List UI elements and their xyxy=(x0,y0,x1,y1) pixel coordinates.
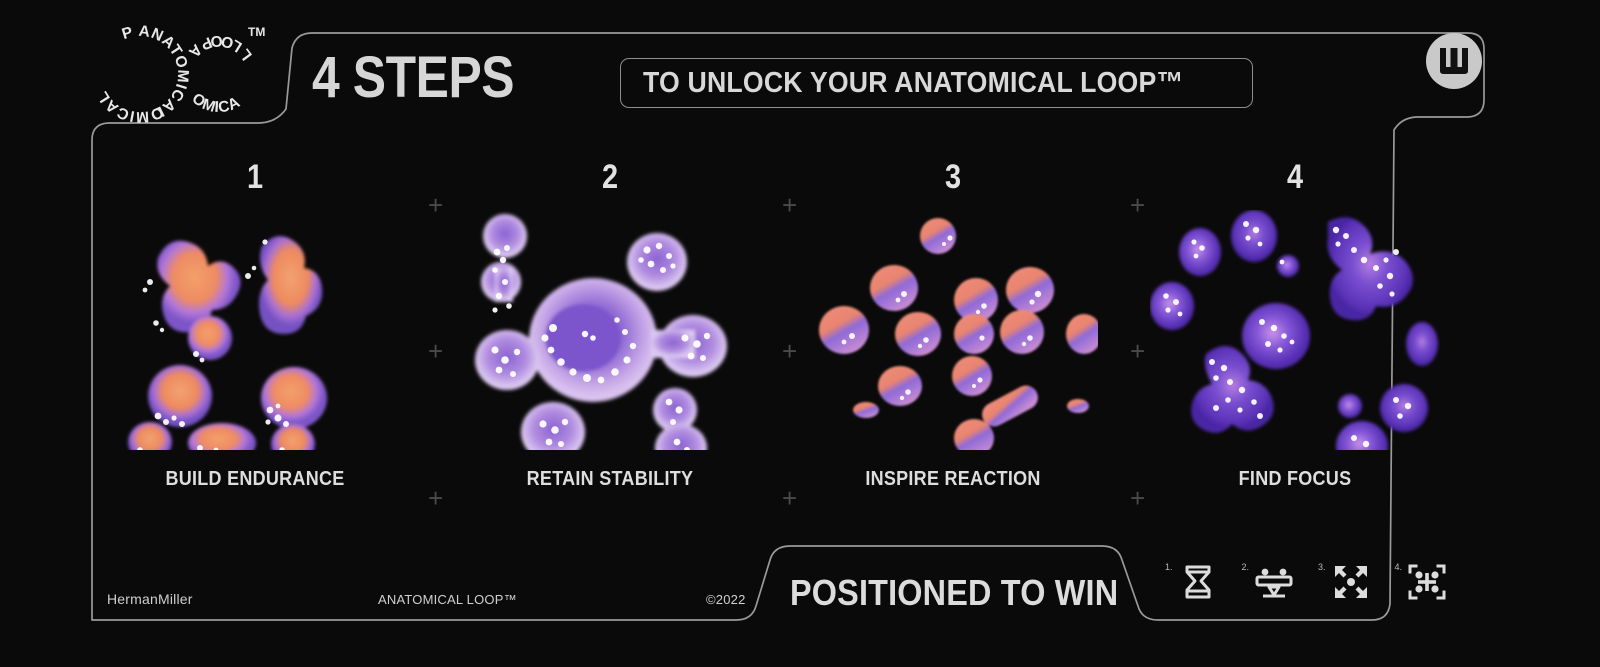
header-subtitle-pill: TO UNLOCK YOUR ANATOMICAL LOOP™ xyxy=(620,58,1253,108)
separator-plus: + xyxy=(782,192,797,218)
blob-cluster-endurance xyxy=(110,210,400,450)
svg-text:L LOOP A: L LOOP A xyxy=(185,32,256,64)
separator-plus: + xyxy=(782,338,797,364)
loop-logo-trademark: TM xyxy=(248,25,265,39)
blob-cluster-reaction xyxy=(808,210,1098,450)
header-subtitle-text: TO UNLOCK YOUR ANATOMICAL LOOP™ xyxy=(643,67,1183,100)
separator-plus: + xyxy=(1130,338,1145,364)
step-column-3: 3 xyxy=(808,160,1098,520)
mini-icon-item-3: 3. xyxy=(1318,560,1373,604)
separator-plus: + xyxy=(428,192,443,218)
page-title: 4 STEPS xyxy=(312,48,514,109)
blob-cluster-focus xyxy=(1150,210,1440,450)
footer-product-name: ANATOMICAL LOOP™ xyxy=(378,592,517,607)
svg-text:OMICAL: OMICAL xyxy=(94,88,165,125)
steps-row: + + + + + + + + + 1 xyxy=(110,160,1490,520)
focus-target-icon xyxy=(1405,560,1449,604)
separator-plus: + xyxy=(428,485,443,511)
footer-copyright: ©2022 xyxy=(706,592,746,607)
step-number: 4 xyxy=(1172,160,1419,194)
step-number: 3 xyxy=(830,160,1077,194)
anatomical-loop-infinity-logo: P ANATOMICAL OMICAL OMICA L LOOP A TM xyxy=(88,22,278,127)
mini-icon-index: 1. xyxy=(1165,562,1173,572)
bottom-tab-headline: POSITIONED TO WIN xyxy=(790,572,1118,614)
herman-miller-m-logo xyxy=(1426,33,1482,89)
step-column-2: 2 xyxy=(465,160,755,520)
mini-icon-index: 2. xyxy=(1242,562,1250,572)
step-column-1: 1 xyxy=(110,160,400,520)
step-number: 2 xyxy=(487,160,734,194)
footer-brand: HermanMiller xyxy=(107,591,193,607)
expand-arrows-icon xyxy=(1329,560,1373,604)
seesaw-balance-icon xyxy=(1252,560,1296,604)
step-label: RETAIN STABILITY xyxy=(480,468,741,491)
mini-icon-item-1: 1. xyxy=(1165,560,1220,604)
mini-icon-item-2: 2. xyxy=(1242,560,1297,604)
step-label: BUILD ENDURANCE xyxy=(125,468,386,491)
mini-icon-item-4: 4. xyxy=(1395,560,1450,604)
poster-canvas: P ANATOMICAL OMICAL OMICA L LOOP A TM 4 … xyxy=(0,0,1600,667)
mini-icon-index: 4. xyxy=(1395,562,1403,572)
step-label: FIND FOCUS xyxy=(1165,468,1426,491)
hourglass-icon xyxy=(1176,560,1220,604)
separator-plus: + xyxy=(782,485,797,511)
mini-icon-index: 3. xyxy=(1318,562,1326,572)
separator-plus: + xyxy=(1130,485,1145,511)
mini-icon-row: 1. 2. 3. xyxy=(1165,560,1449,604)
step-number: 1 xyxy=(132,160,379,194)
step-column-4: 4 xyxy=(1150,160,1440,520)
step-label: INSPIRE REACTION xyxy=(823,468,1084,491)
separator-plus: + xyxy=(428,338,443,364)
blob-cluster-stability xyxy=(465,210,755,450)
svg-text:OMICA: OMICA xyxy=(189,90,244,116)
separator-plus: + xyxy=(1130,192,1145,218)
